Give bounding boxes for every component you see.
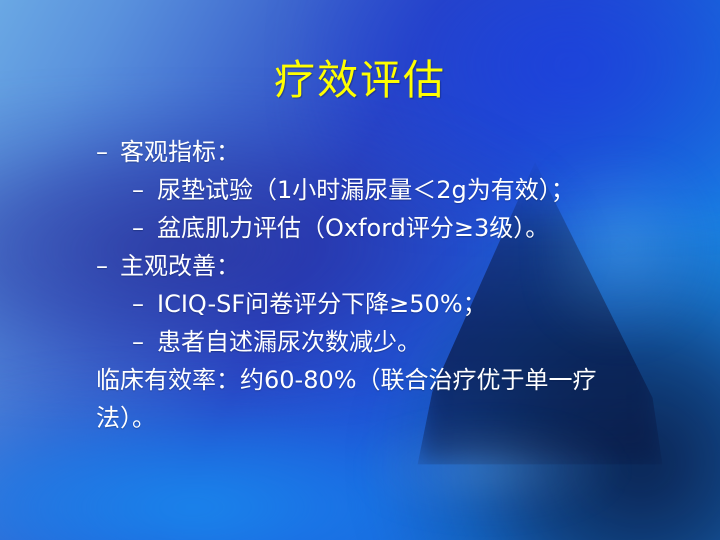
bullet-item: – 主观改善： — [96, 247, 686, 285]
bullet-text: 主观改善： — [120, 247, 240, 285]
bullet-text: 盆底肌力评估（Oxford评分≥3级）。 — [157, 209, 549, 247]
bullet-text: 患者自述漏尿次数减少。 — [157, 323, 421, 361]
bullet-item: – 客观指标： — [96, 133, 686, 171]
bullet-item: – 患者自述漏尿次数减少。 — [96, 323, 686, 361]
bullet-text: ICIQ-SF问卷评分下降≥50%； — [157, 285, 487, 323]
slide-title: 疗效评估 — [0, 56, 720, 104]
bullet-item: – ICIQ-SF问卷评分下降≥50%； — [96, 285, 686, 323]
slide-content: 疗效评估 – 客观指标： – 尿垫试验（1小时漏尿量＜2g为有效）； – 盆底肌… — [0, 0, 720, 540]
closing-paragraph: 临床有效率：约60-80%（联合治疗优于单一疗法）。 — [96, 361, 636, 437]
bullet-item: – 盆底肌力评估（Oxford评分≥3级）。 — [96, 209, 686, 247]
bullet-item: – 尿垫试验（1小时漏尿量＜2g为有效）； — [96, 171, 686, 209]
presentation-slide: 疗效评估 – 客观指标： – 尿垫试验（1小时漏尿量＜2g为有效）； – 盆底肌… — [0, 0, 720, 540]
bullet-dash-icon: – — [132, 171, 157, 209]
bullet-text: 客观指标： — [120, 133, 240, 171]
bullet-dash-icon: – — [132, 323, 157, 361]
bullet-text: 尿垫试验（1小时漏尿量＜2g为有效）； — [157, 171, 575, 209]
bullet-dash-icon: – — [132, 285, 157, 323]
bullet-dash-icon: – — [132, 209, 157, 247]
bullet-dash-icon: – — [96, 247, 120, 285]
bullet-dash-icon: – — [96, 133, 120, 171]
slide-body: – 客观指标： – 尿垫试验（1小时漏尿量＜2g为有效）； – 盆底肌力评估（O… — [96, 133, 686, 437]
